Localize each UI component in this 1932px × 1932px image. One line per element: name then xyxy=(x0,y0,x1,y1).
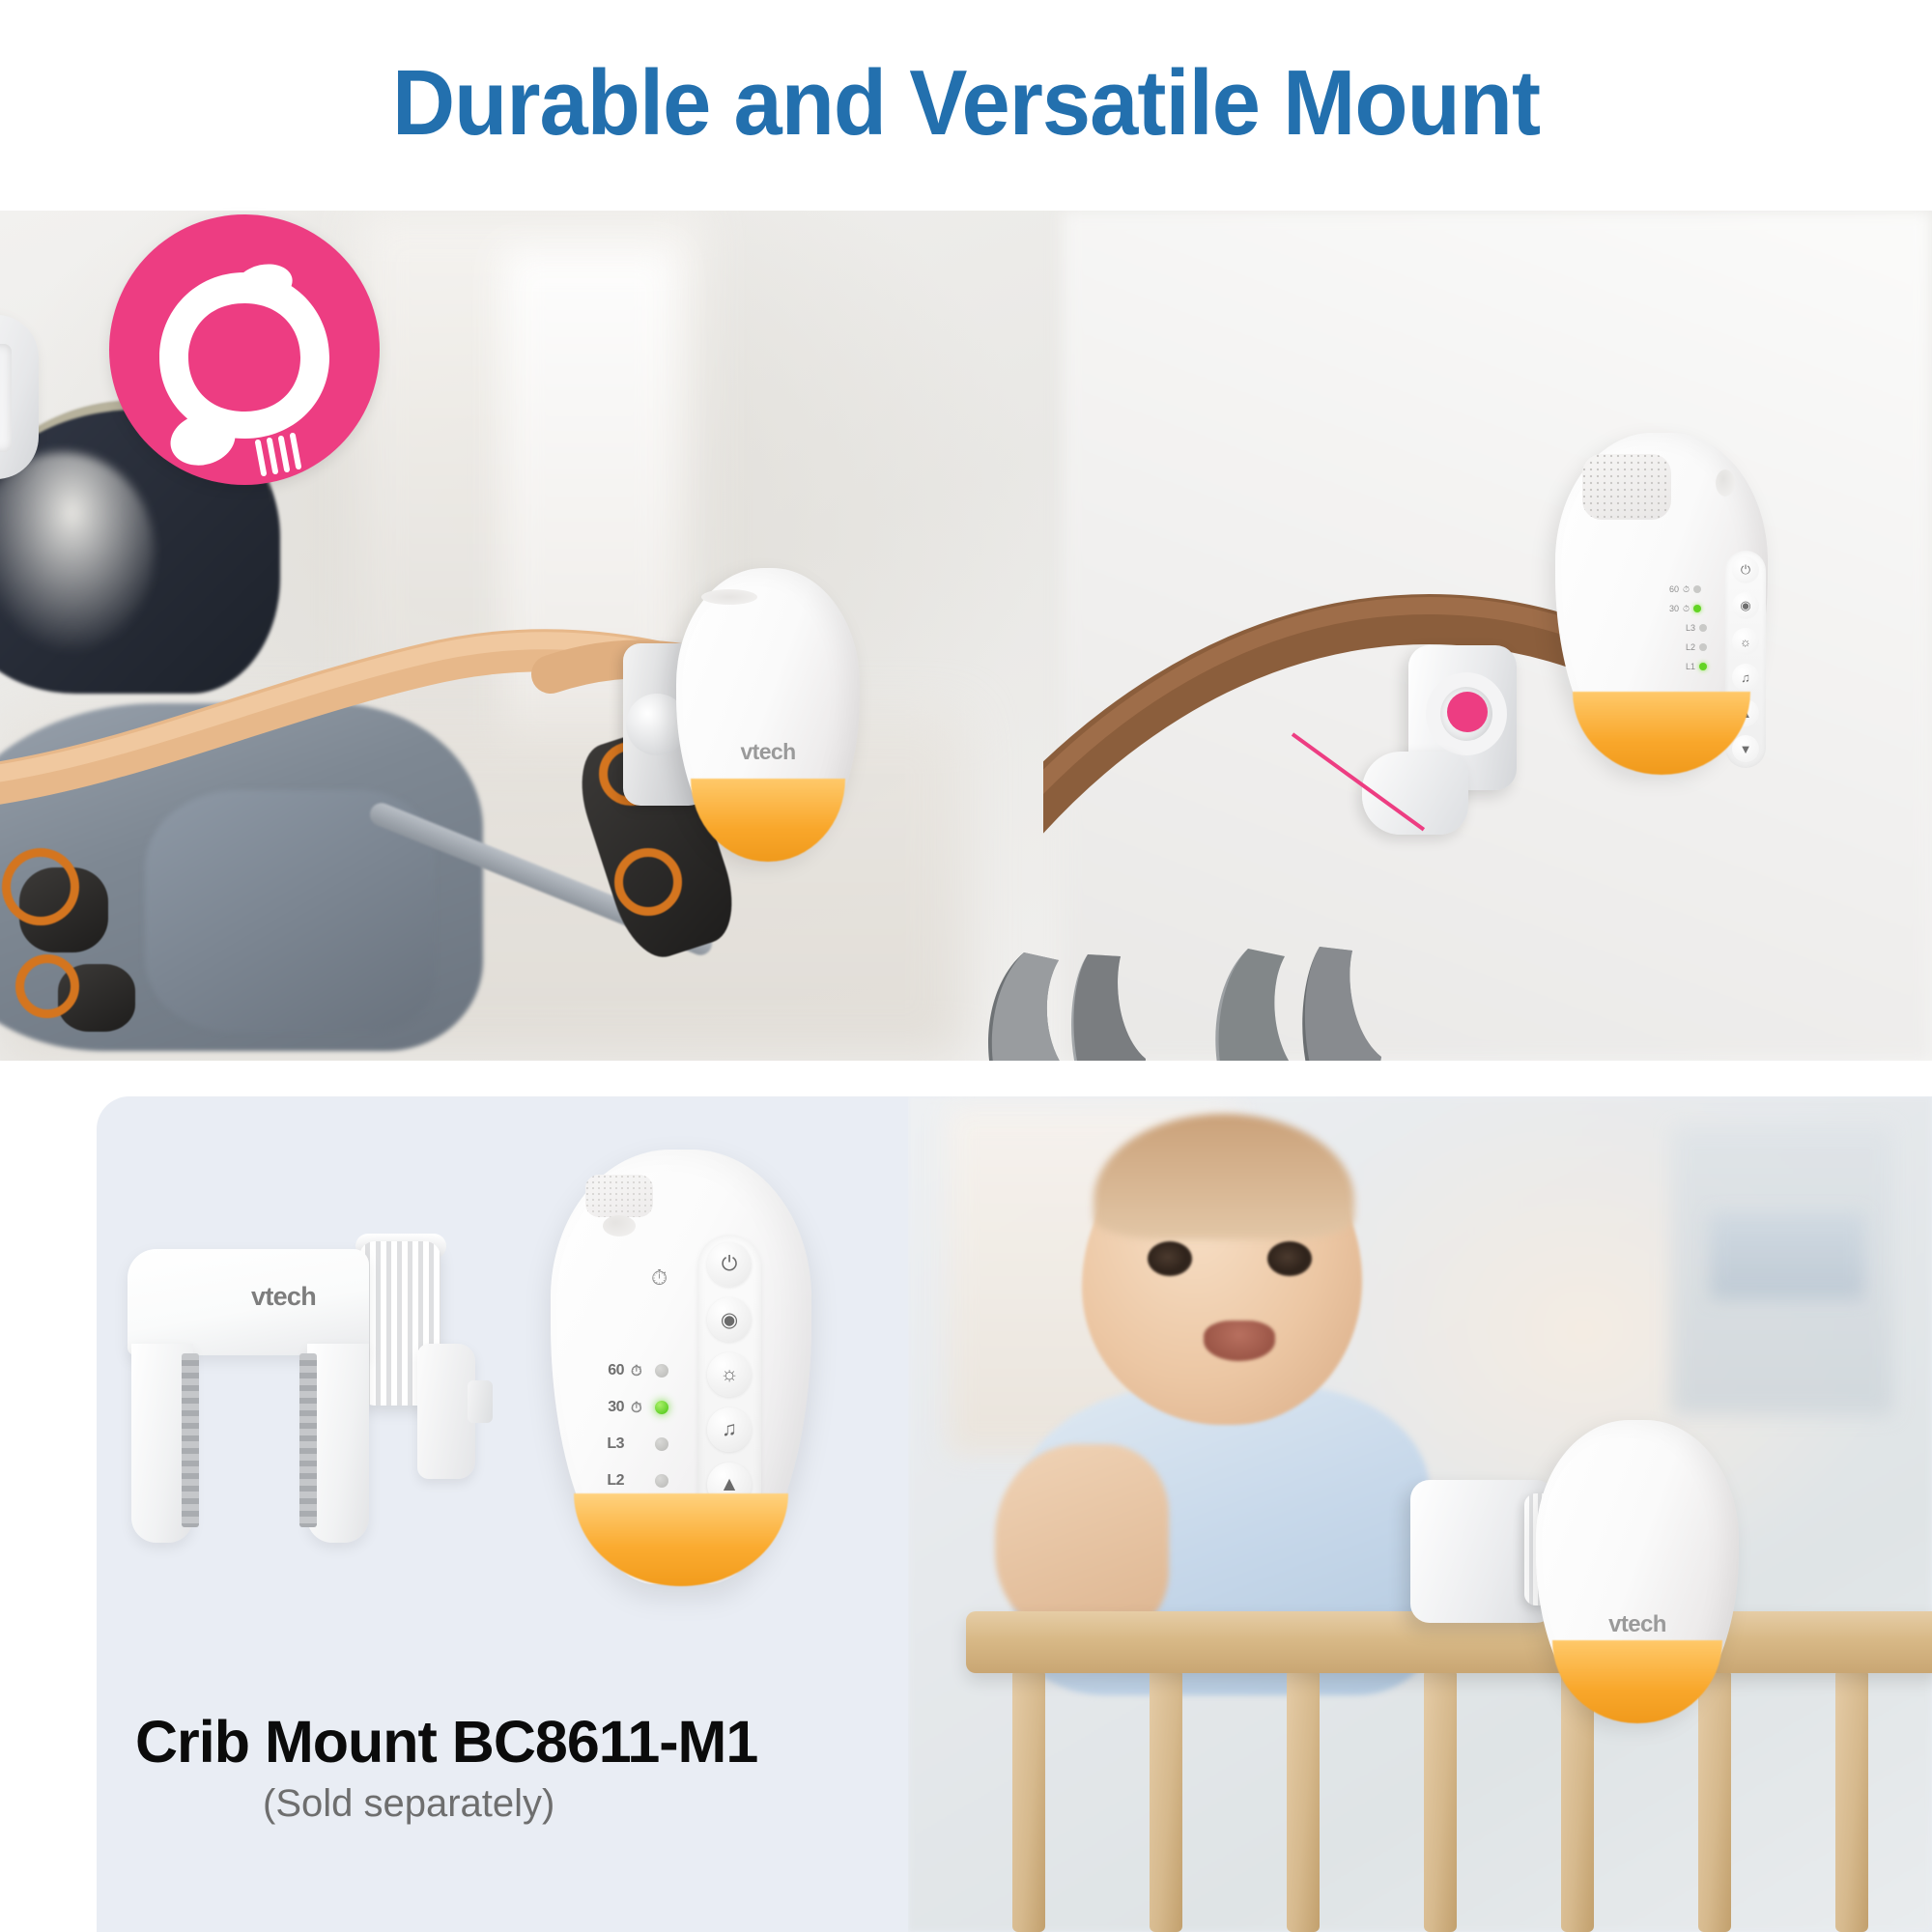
crib-slat xyxy=(1150,1669,1182,1932)
page-title: Durable and Versatile Mount xyxy=(58,50,1874,156)
mount-clamp-detail xyxy=(1391,645,1536,838)
unit-b-mount-slot xyxy=(0,344,12,452)
crib-mount-grip-teeth-left xyxy=(182,1353,199,1527)
stroller-joint-ring-2 xyxy=(15,954,79,1018)
led-l2-dot xyxy=(655,1474,668,1488)
nursery-shelf-items xyxy=(1710,1212,1864,1299)
unit-a-night-light xyxy=(691,779,845,862)
unit-d-microphone xyxy=(603,1215,636,1236)
baby-eye-right xyxy=(1267,1241,1312,1276)
unit-b-led-60: 60 ⏱ xyxy=(1669,580,1723,599)
clamp-rubber-pad-marker xyxy=(1447,692,1488,732)
music-note-icon: ♫ xyxy=(707,1407,752,1452)
unit-b-led-30-label: 30 xyxy=(1669,604,1679,613)
unit-b-led-l2-label: L2 xyxy=(1686,642,1695,652)
rubber-pad-set-1 xyxy=(988,952,1146,1061)
unit-d-night-light xyxy=(574,1493,787,1586)
led-60-dot xyxy=(655,1364,668,1378)
baby-unit-rear-view: 60 ⏱ 30 ⏱ L3 L2 L1 xyxy=(1555,433,1768,771)
crib-mount-subtitle: (Sold separately) xyxy=(263,1782,554,1826)
unit-c-night-light xyxy=(1552,1640,1722,1723)
crib-mount-grip-teeth-right xyxy=(299,1353,317,1527)
led-indicator-30: 30 ⏱ xyxy=(595,1389,701,1426)
night-light-icon: ☼ xyxy=(1732,628,1759,655)
music-note-icon: ♫ xyxy=(1732,664,1759,691)
unit-b-led-60-dot xyxy=(1693,585,1701,593)
baby-unit-front-view: ⏱ 60 ⏱ 30 ⏱ L3 L2 L1 xyxy=(551,1150,811,1584)
unit-b-led-list: 60 ⏱ 30 ⏱ L3 L2 L1 xyxy=(1669,580,1723,676)
led-60-label: 60 xyxy=(595,1362,624,1379)
led-l3-label: L3 xyxy=(595,1435,624,1453)
timer-icon: ⏱ xyxy=(631,1400,648,1416)
led-l2-label: L2 xyxy=(595,1472,624,1490)
unit-a-brand-logo: vtech xyxy=(676,739,860,765)
unit-b-sensor xyxy=(1716,469,1735,497)
led-30-label: 30 xyxy=(595,1399,624,1416)
stroller-joint-ring-1 xyxy=(2,848,79,925)
unit-b-led-60-label: 60 xyxy=(1669,584,1679,594)
timer-icon: ⏱ xyxy=(631,1363,648,1379)
timer-icon: ⏱ xyxy=(651,1265,668,1291)
unit-b-led-30-dot xyxy=(1693,605,1701,612)
crib-mount-brand-logo: vtech xyxy=(251,1282,316,1312)
unit-b-led-l1-dot xyxy=(1699,663,1707,670)
talk-vibration-icon: ◉ xyxy=(1732,592,1759,619)
crib-mount-connector xyxy=(468,1380,493,1423)
unit-b-led-l2-dot xyxy=(1699,643,1707,651)
crib-mount-product: vtech xyxy=(128,1239,485,1548)
baby-unit-on-crib: vtech xyxy=(1536,1420,1739,1719)
rubber-pad-set-2 xyxy=(1215,947,1381,1061)
unit-b-speaker-grill xyxy=(1582,454,1671,520)
led-indicator-60: 60 ⏱ xyxy=(595,1352,701,1389)
rubber-pad-group xyxy=(966,935,1410,1061)
unit-b-led-30: 30 ⏱ xyxy=(1669,599,1723,618)
unit-b-led-l3: L3 xyxy=(1669,618,1723,638)
unit-b-night-light xyxy=(1573,692,1751,775)
power-icon: ⏻ xyxy=(707,1242,752,1287)
timer-icon: ⏱ xyxy=(1683,604,1690,614)
crib-slat xyxy=(1012,1669,1045,1932)
unit-b-led-l2: L2 xyxy=(1669,638,1723,657)
baby-mouth xyxy=(1204,1321,1275,1361)
unit-b-led-l1-label: L1 xyxy=(1686,662,1695,671)
crib-photo: vtech xyxy=(908,1096,1932,1932)
power-icon: ⏻ xyxy=(1732,556,1759,583)
led-l3-dot xyxy=(655,1437,668,1451)
unit-c-brand-logo: vtech xyxy=(1536,1611,1739,1638)
clamp-feature-badge xyxy=(109,214,380,485)
unit-b-led-l1: L1 xyxy=(1669,657,1723,676)
timer-icon: ⏱ xyxy=(1683,584,1690,595)
crib-mount-title: Crib Mount BC8611-M1 xyxy=(135,1708,757,1776)
unit-b-led-l3-dot xyxy=(1699,624,1707,632)
clamp-ring-icon xyxy=(109,214,380,485)
crib-mount-bridge xyxy=(128,1249,369,1355)
volume-down-icon: ▼ xyxy=(1732,735,1759,762)
led-30-dot xyxy=(655,1401,668,1414)
crib-mount-shaft xyxy=(417,1344,475,1479)
crib-slat xyxy=(1287,1669,1320,1932)
talk-vibration-icon: ◉ xyxy=(707,1297,752,1342)
unit-b-led-l3-label: L3 xyxy=(1686,623,1695,633)
led-indicator-l3: L3 xyxy=(595,1426,701,1463)
unit-a-speaker xyxy=(701,589,757,605)
unit-d-speaker-grill xyxy=(585,1175,653,1217)
baby-unit-on-stroller: vtech xyxy=(676,568,860,858)
stroller-joint-ring-4 xyxy=(614,848,682,916)
baby-eye-left xyxy=(1148,1241,1192,1276)
crib-slat xyxy=(1424,1669,1457,1932)
night-light-icon: ☼ xyxy=(707,1352,752,1397)
crib-slat xyxy=(1835,1669,1868,1932)
baby-arm xyxy=(995,1444,1169,1637)
